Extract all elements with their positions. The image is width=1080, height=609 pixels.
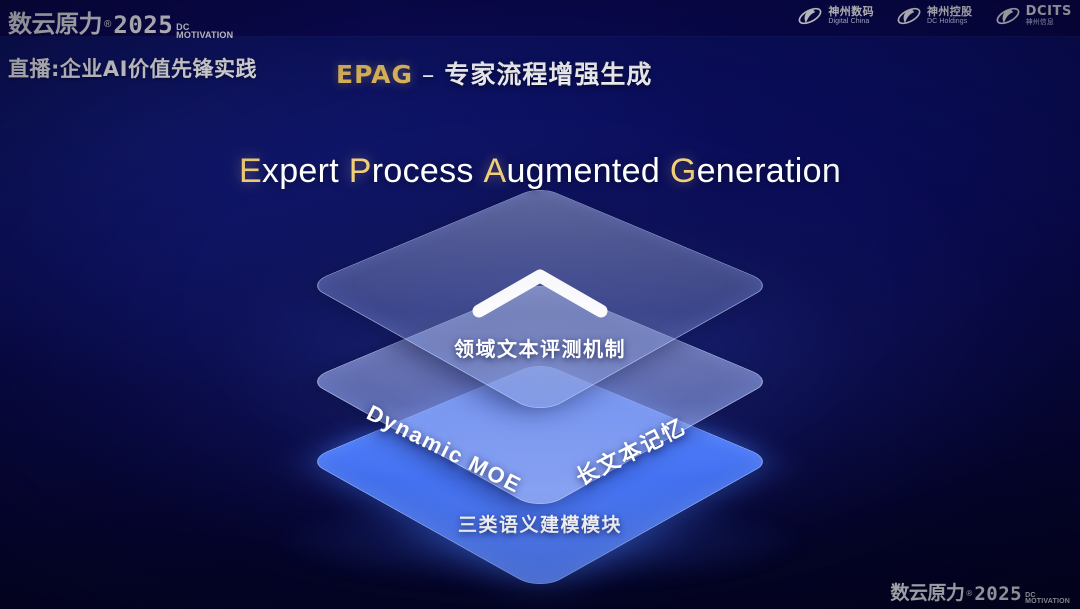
corner-watermark-logo: 数云原力 ® 2025 DC MOTIVATION bbox=[890, 578, 1070, 605]
event-logo-registered-mark: ® bbox=[104, 19, 111, 30]
partner-digital-china-text: 神州数码 Digital China bbox=[828, 6, 874, 25]
layer-middle[interactable] bbox=[260, 262, 820, 562]
subtitle-word-process: rocess bbox=[372, 152, 474, 190]
slide-canvas: 领域文本评测机制 Dynamic MOE 长文本记忆 三类语义建模模块 数云原力… bbox=[0, 0, 1080, 609]
page-title-dash: – bbox=[413, 60, 444, 89]
partner-logo-group: 神州数码 Digital China 神州控股 DC Holdings bbox=[797, 5, 1072, 27]
top-banner: 数云原力 ® 2025 DC MOTIVATION 神州数码 Digital C… bbox=[0, 0, 1080, 37]
bottom-layer-glow bbox=[280, 497, 800, 587]
layer-bottom-plate bbox=[307, 362, 774, 591]
subtitle-word-augmented: ugmented bbox=[506, 152, 660, 190]
subtitle-cap-e: E bbox=[239, 152, 262, 190]
layer-bottom[interactable] bbox=[260, 342, 820, 609]
layer-top[interactable] bbox=[260, 166, 820, 466]
partner-digital-china-cn: 神州数码 bbox=[828, 6, 874, 18]
layer-middle-label-left: Dynamic MOE bbox=[362, 400, 526, 499]
subtitle-word-expert: xpert bbox=[262, 152, 339, 190]
subtitle-cap-p: P bbox=[349, 152, 372, 190]
watermark-dc-motivation: DC MOTIVATION bbox=[1025, 593, 1070, 606]
swirl-logo-icon bbox=[797, 5, 823, 27]
partner-dcits-text: DCITS 神州信息 bbox=[1026, 5, 1072, 27]
middle-layer-glow bbox=[320, 418, 760, 490]
event-logo-year: 2025 bbox=[113, 11, 173, 39]
partner-dc-holdings-en: DC Holdings bbox=[927, 18, 973, 26]
swirl-logo-icon bbox=[995, 5, 1021, 27]
layer-middle-plate bbox=[307, 282, 774, 511]
subtitle-word-generation: eneration bbox=[697, 152, 841, 190]
watermark-year: 2025 bbox=[974, 583, 1022, 605]
partner-dc-holdings[interactable]: 神州控股 DC Holdings bbox=[896, 5, 973, 27]
partner-digital-china[interactable]: 神州数码 Digital China bbox=[797, 5, 874, 27]
layer-top-label: 领域文本评测机制 bbox=[454, 333, 626, 362]
vignette-overlay bbox=[0, 0, 1080, 609]
chevron-up-icon bbox=[472, 268, 608, 318]
layer-stack-diagram: 领域文本评测机制 Dynamic MOE 长文本记忆 三类语义建模模块 bbox=[0, 0, 1080, 609]
page-title-rest: 专家流程增强生成 bbox=[444, 60, 652, 89]
watermark-motivation: MOTIVATION bbox=[1025, 599, 1070, 606]
partner-digital-china-en: Digital China bbox=[828, 18, 874, 26]
partner-dcits[interactable]: DCITS 神州信息 bbox=[995, 5, 1072, 27]
subtitle-cap-a: A bbox=[483, 152, 506, 190]
partner-dcits-cn: DCITS bbox=[1026, 5, 1072, 19]
live-stream-title: 直播:企业AI价值先锋实践 bbox=[8, 53, 257, 83]
swirl-logo-icon bbox=[896, 5, 922, 27]
watermark-registered-mark: ® bbox=[966, 589, 972, 598]
layer-bottom-label: 三类语义建模模块 bbox=[458, 510, 622, 537]
subtitle: Expert Process Augmented Generation bbox=[0, 152, 1080, 191]
page-title-accent: EPAG bbox=[336, 60, 413, 89]
watermark-cn: 数云原力 bbox=[890, 578, 964, 605]
partner-dc-holdings-cn: 神州控股 bbox=[927, 6, 973, 18]
event-logo: 数云原力 ® 2025 DC MOTIVATION bbox=[8, 4, 233, 39]
title-divider bbox=[393, 122, 684, 129]
event-logo-dc-motivation: DC MOTIVATION bbox=[176, 23, 233, 40]
layer-middle-label-right: 长文本记忆 bbox=[569, 409, 690, 492]
partner-dcits-en: 神州信息 bbox=[1026, 19, 1072, 27]
event-logo-motivation: MOTIVATION bbox=[176, 31, 233, 40]
page-title: EPAG – 专家流程增强生成 bbox=[336, 55, 652, 91]
layer-top-plate bbox=[307, 186, 774, 415]
subtitle-cap-g: G bbox=[670, 152, 697, 190]
event-logo-cn: 数云原力 bbox=[8, 4, 102, 39]
partner-dc-holdings-text: 神州控股 DC Holdings bbox=[927, 6, 973, 25]
